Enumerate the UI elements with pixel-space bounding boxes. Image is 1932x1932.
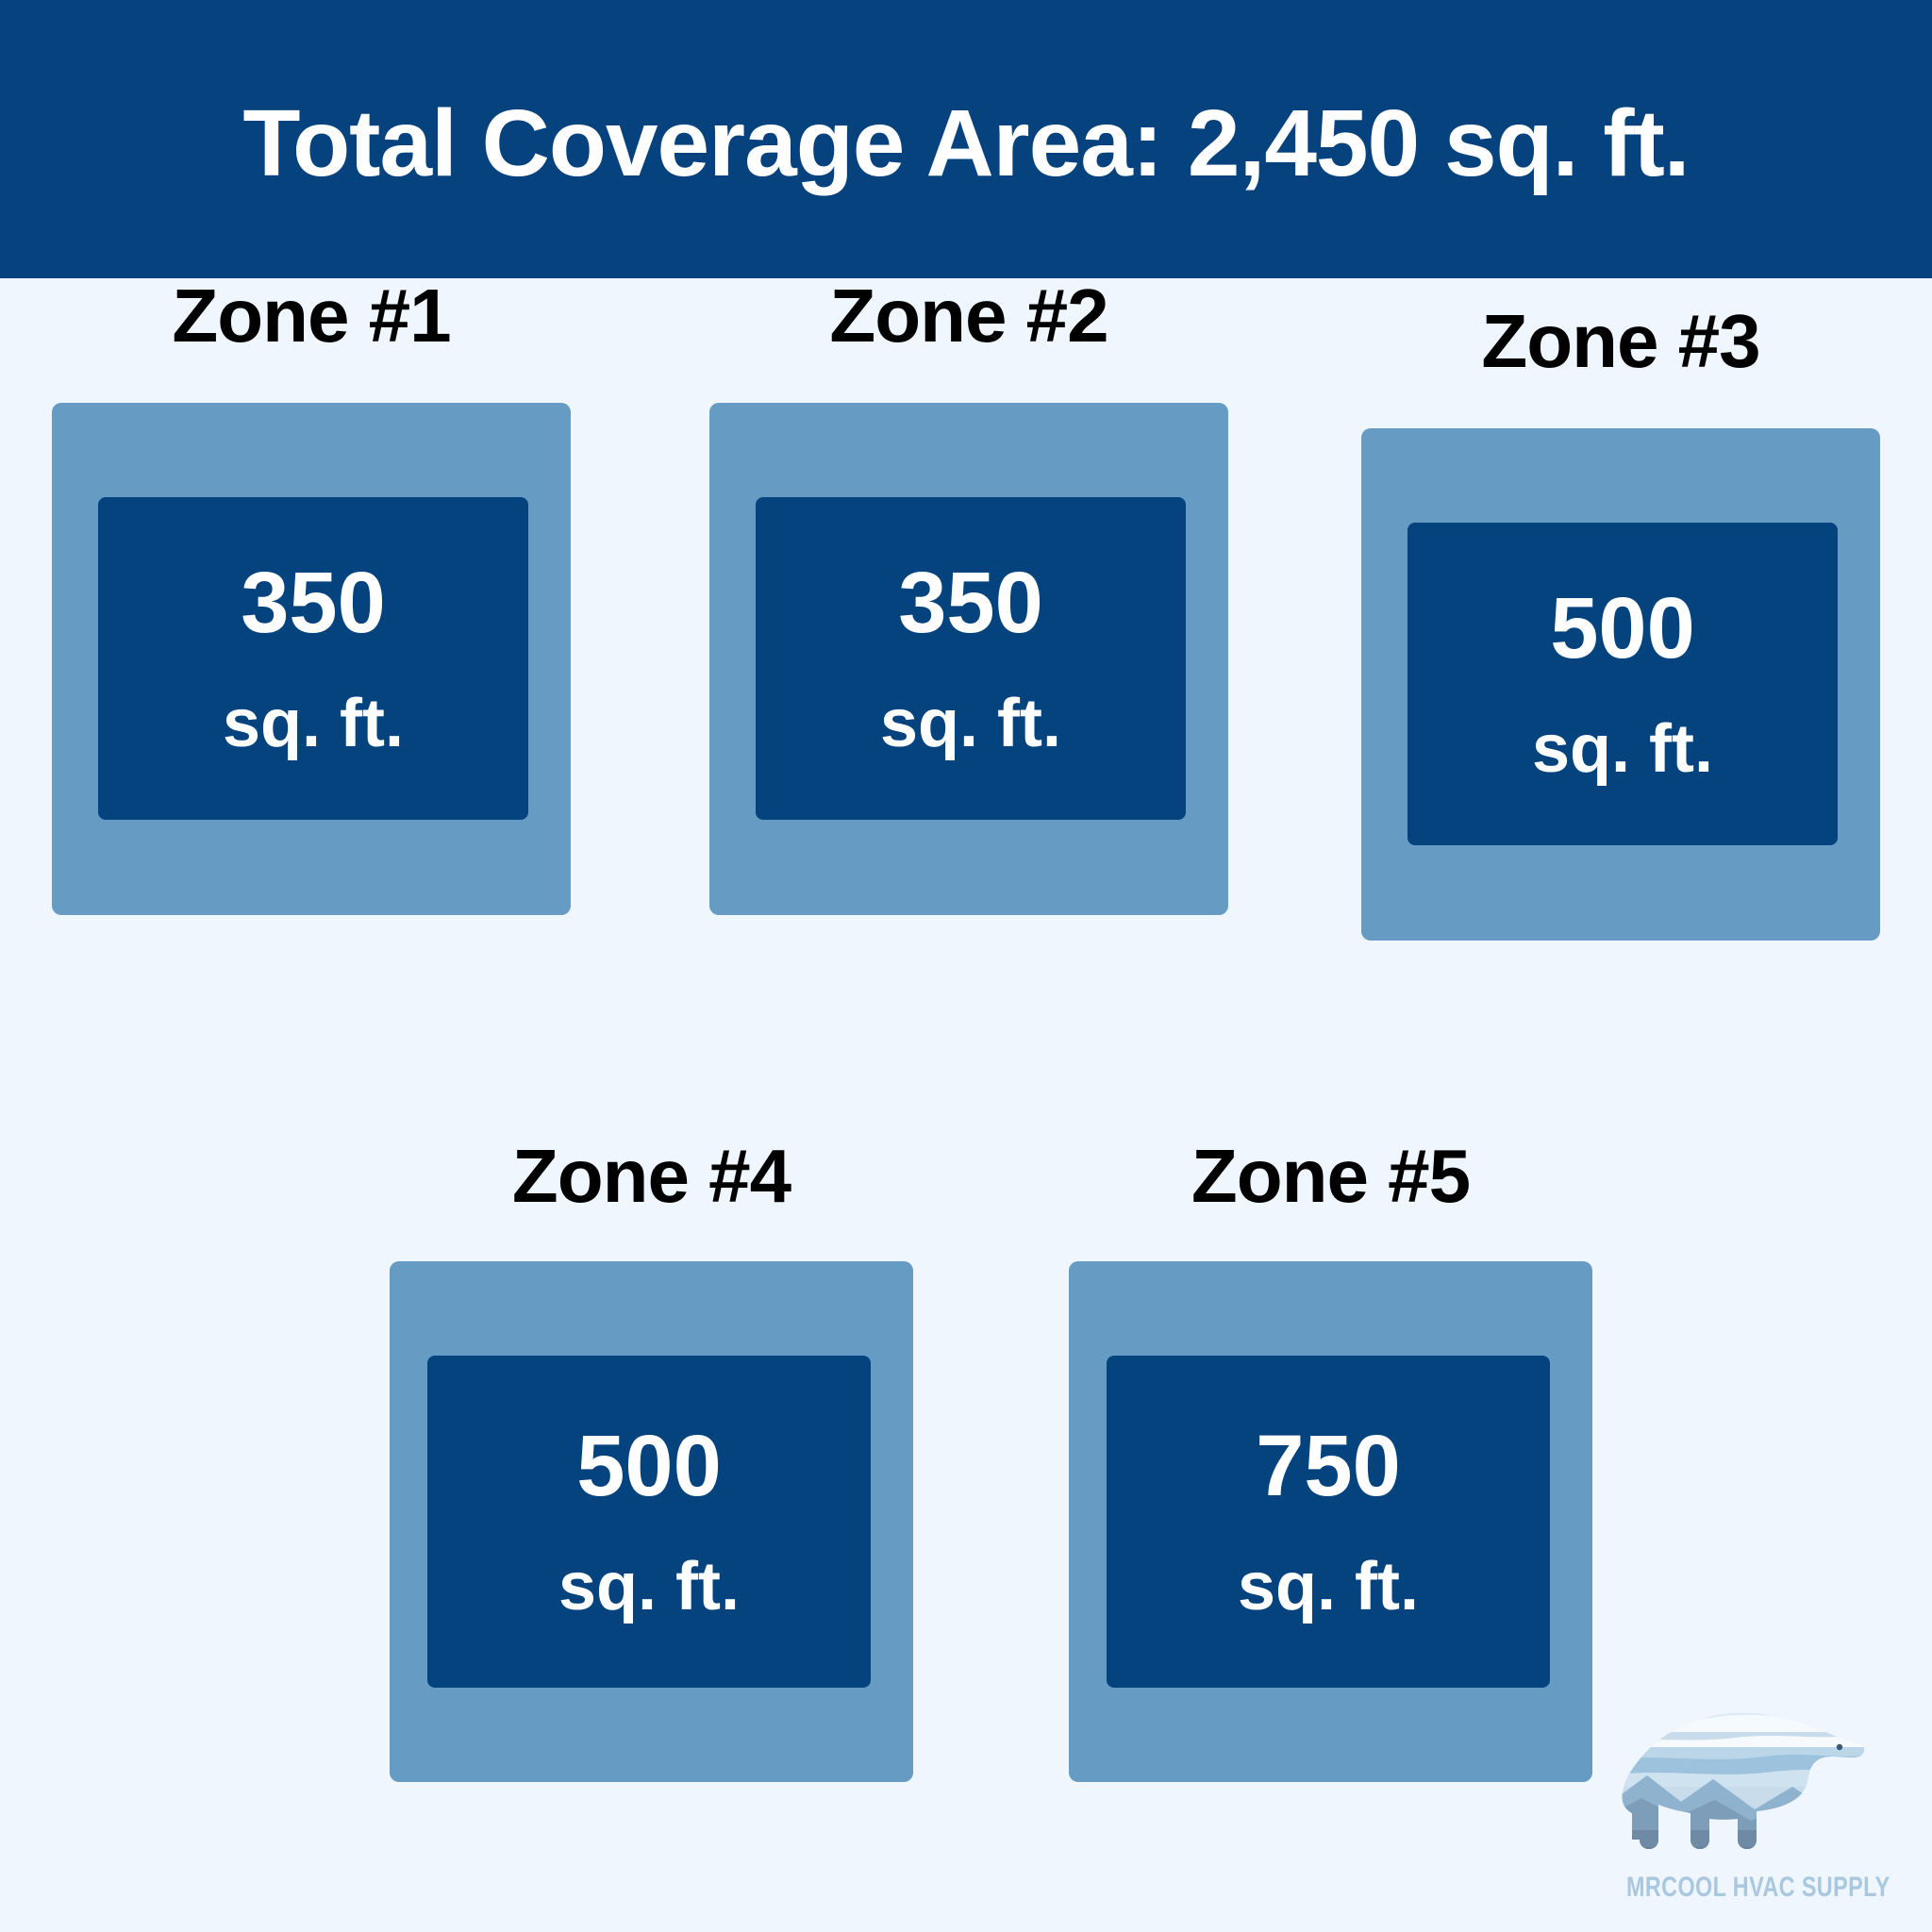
- zone-value-2: 350: [898, 559, 1043, 646]
- header-bar: Total Coverage Area: 2,450 sq. ft.: [0, 0, 1932, 278]
- zone-label-3: Zone #3: [1361, 304, 1880, 379]
- zone-cell-4: Zone #4 500 sq. ft.: [390, 1139, 913, 1782]
- zone-label-1: Zone #1: [52, 278, 571, 354]
- zone-unit-4: sq. ft.: [558, 1553, 740, 1621]
- zone-value-box-4: 500 sq. ft.: [427, 1356, 871, 1688]
- zone-value-5: 750: [1256, 1423, 1401, 1509]
- zone-cell-1: Zone #1 350 sq. ft.: [52, 278, 571, 915]
- zone-cell-2: Zone #2 350 sq. ft.: [709, 278, 1228, 915]
- zone-value-box-5: 750 sq. ft.: [1107, 1356, 1550, 1688]
- zone-card-2[interactable]: 350 sq. ft.: [709, 403, 1228, 915]
- brand-logo: MRCOOL HVAC SUPPLY: [1604, 1689, 1896, 1920]
- zone-value-box-1: 350 sq. ft.: [98, 497, 528, 820]
- zone-value-3: 500: [1550, 585, 1695, 672]
- zone-label-2: Zone #2: [709, 278, 1228, 354]
- zones-grid: Zone #1 350 sq. ft. Zone #2 350 sq. ft. …: [0, 278, 1932, 1932]
- zone-value-1: 350: [241, 559, 386, 646]
- zone-value-box-3: 500 sq. ft.: [1407, 523, 1838, 845]
- zone-card-4[interactable]: 500 sq. ft.: [390, 1261, 913, 1782]
- zone-label-5: Zone #5: [1069, 1139, 1592, 1214]
- zone-cell-3: Zone #3 500 sq. ft.: [1361, 304, 1880, 941]
- zone-value-box-2: 350 sq. ft.: [756, 497, 1186, 820]
- zone-value-4: 500: [576, 1423, 722, 1509]
- page-title: Total Coverage Area: 2,450 sq. ft.: [242, 96, 1689, 191]
- zone-label-4: Zone #4: [390, 1139, 913, 1214]
- polar-bear-icon: [1604, 1689, 1868, 1868]
- zone-unit-2: sq. ft.: [880, 690, 1061, 758]
- zone-card-5[interactable]: 750 sq. ft.: [1069, 1261, 1592, 1782]
- zone-cell-5: Zone #5 750 sq. ft.: [1069, 1139, 1592, 1782]
- zone-unit-5: sq. ft.: [1238, 1553, 1419, 1621]
- zone-unit-3: sq. ft.: [1532, 715, 1713, 783]
- zone-card-1[interactable]: 350 sq. ft.: [52, 403, 571, 915]
- zone-card-3[interactable]: 500 sq. ft.: [1361, 428, 1880, 941]
- logo-wordmark: MRCOOL HVAC SUPPLY: [1626, 1874, 1832, 1902]
- zone-unit-1: sq. ft.: [223, 690, 404, 758]
- bear-eye-icon: [1837, 1744, 1842, 1750]
